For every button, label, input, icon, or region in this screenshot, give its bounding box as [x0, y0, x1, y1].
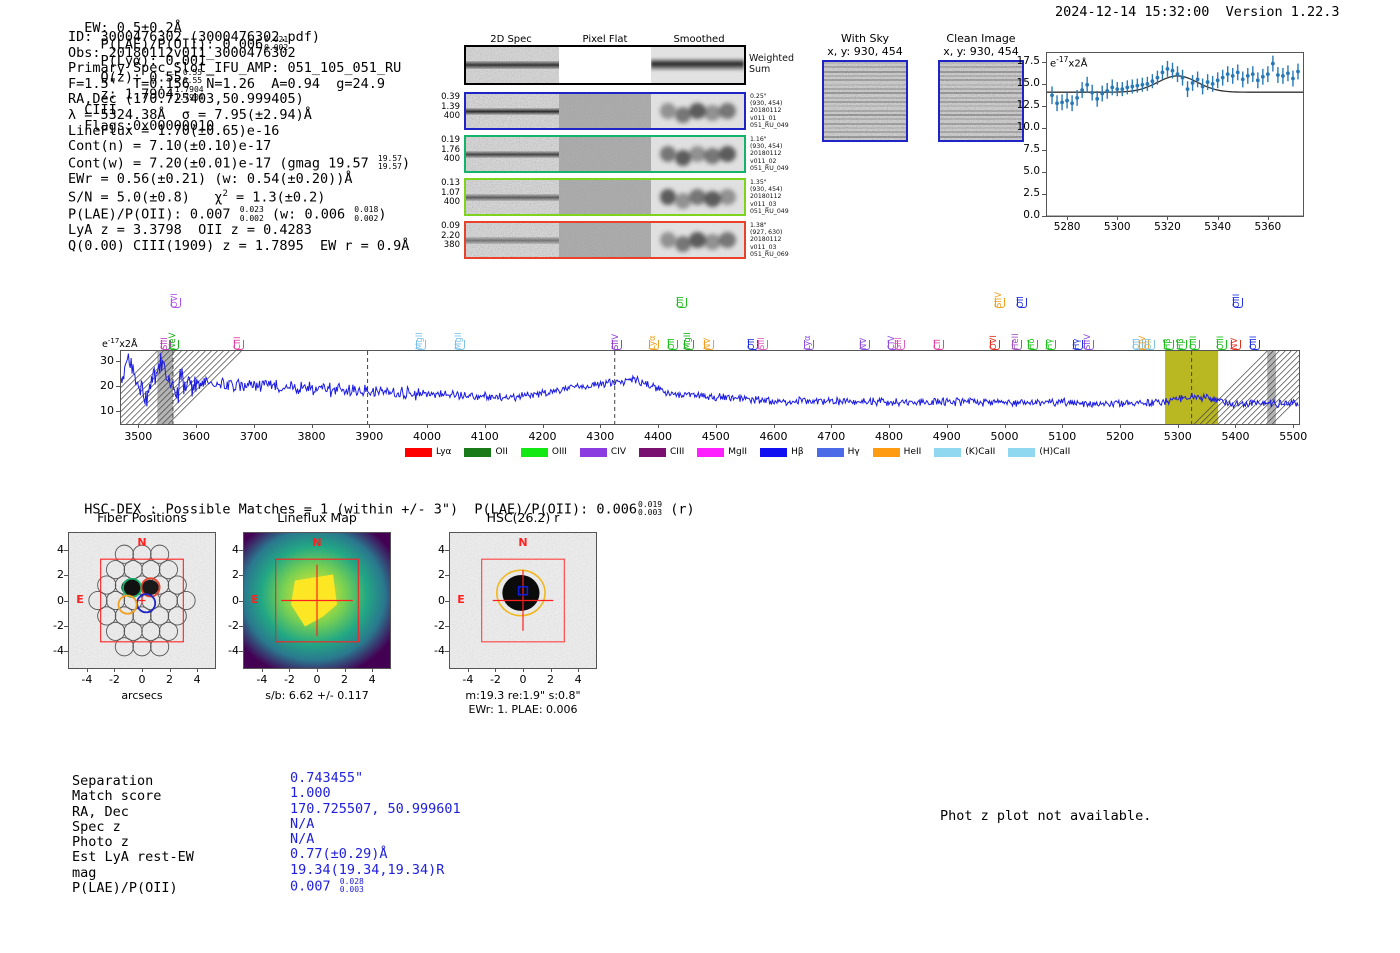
- cutout-stripe: [824, 110, 906, 112]
- spectrum-legend-label: OII: [495, 447, 507, 457]
- cutout-title-text: Clean Image: [916, 32, 1046, 45]
- bottom-panel-image: [449, 532, 597, 669]
- bottom-x-tick-label: 4: [564, 673, 592, 686]
- bottom-y-tick-label: -4: [215, 644, 239, 657]
- cutout-title-text: With Sky: [800, 32, 930, 45]
- bottom-y-tick-label: 2: [40, 568, 64, 581]
- info-line-q: Q(0.00) CIII(1909) z = 1.7895 EW r = 0.9…: [68, 239, 410, 255]
- cutout-stripe: [824, 84, 906, 86]
- spectrum-x-tick: [1235, 424, 1236, 428]
- bottom-x-tick: [317, 668, 318, 672]
- y-tick: [1042, 150, 1046, 151]
- weighted-sum-pixelflat: [559, 47, 652, 83]
- spectrum-legend-swatch: [934, 448, 961, 457]
- line-marker-label: Hγ: [1072, 320, 1082, 350]
- cutout-stripe: [824, 75, 906, 77]
- spectrum-legend-item: Hβ: [760, 447, 804, 457]
- spec2d-row-smooth-blob: [719, 103, 736, 119]
- bottom-y-tick: [64, 651, 68, 652]
- line-marker-label: Hβ: [1176, 320, 1186, 350]
- match-table-value: N/A: [290, 817, 461, 832]
- cutout-stripe: [824, 118, 906, 120]
- bottom-x-tick: [87, 668, 88, 672]
- line-marker-label: OIII: [1249, 320, 1259, 350]
- spec2d-row-smooth-blob: [660, 146, 677, 162]
- line-marker-label: OII: [1144, 320, 1154, 350]
- spectrum-x-tick: [427, 424, 428, 428]
- compass-east-label: E: [454, 593, 468, 606]
- y-tick: [1042, 194, 1046, 195]
- match-table-values: 0.743455"1.000170.725507, 50.999601N/AN/…: [290, 771, 461, 895]
- source-info-block: ID: 3000476302 (3000476302.pdf) Obs: 201…: [68, 30, 410, 255]
- line-marker-label: MgII: [415, 320, 425, 350]
- bottom-x-tick: [523, 668, 524, 672]
- spectrum-legend-label: MgII: [728, 447, 747, 457]
- spectrum-x-tick-label: 4200: [517, 430, 569, 443]
- spectrum-x-tick: [658, 424, 659, 428]
- bottom-x-tick: [170, 668, 171, 672]
- line-marker-label: OII: [676, 278, 686, 308]
- spectrum-legend-label: (H)CaII: [1039, 447, 1070, 457]
- spectrum-legend-swatch: [873, 448, 900, 457]
- x-tick-label: 5340: [1196, 221, 1240, 233]
- spectrum-x-tick: [196, 424, 197, 428]
- weighted-sum-trace: [466, 61, 559, 69]
- cutout-stripe: [824, 127, 906, 129]
- spectrum-legend-item: OII: [464, 447, 507, 457]
- line-marker-label: OIII: [1189, 320, 1199, 350]
- spectrum-x-tick-label: 4100: [459, 430, 511, 443]
- line-fit-units-annotation: e-17x2Å: [1050, 55, 1088, 69]
- bottom-y-tick-label: 2: [421, 568, 445, 581]
- spec2d-row-value: 400: [422, 198, 460, 208]
- info-line-z: LyA z = 3.3798 OII z = 0.4283: [68, 223, 410, 239]
- x-tick-label: 5360: [1246, 221, 1290, 233]
- spec2d-row-trace: [466, 151, 559, 158]
- spectrum-legend-label: CIII: [670, 447, 684, 457]
- match-table-value: 0.77(±0.29)Å: [290, 847, 461, 862]
- cutout-stripe: [824, 71, 906, 73]
- spec2d-row-smooth-blob: [719, 146, 736, 162]
- bottom-x-tick-label: 2: [331, 673, 359, 686]
- bottom-y-tick: [239, 651, 243, 652]
- info-line-cont-w: Cont(w) = 7.20(±0.01)e-17 (gmag 19.57 19…: [68, 155, 410, 172]
- bottom-y-tick-label: -2: [421, 619, 445, 632]
- spectrum-legend-item: CIV: [580, 447, 626, 457]
- weighted-sum-row: [464, 45, 746, 85]
- spectrum-x-tick: [485, 424, 486, 428]
- spectrum-legend-swatch: [521, 448, 548, 457]
- bottom-x-tick-label: 4: [183, 673, 211, 686]
- line-marker-label: SiIV: [611, 320, 621, 350]
- spec2d-row-meta: 1.16" (930, 454) 20180112 v011_02 051_RU…: [750, 136, 789, 172]
- spectrum-legend-label: Hβ: [791, 447, 804, 457]
- y-tick-label: 0.0: [1004, 209, 1040, 221]
- y-tick-label: 7.5: [1004, 143, 1040, 155]
- bottom-panel-image: [243, 532, 391, 669]
- bottom-x-tick: [372, 668, 373, 672]
- weighted-sum-label: Weighted Sum: [749, 53, 794, 75]
- bottom-y-tick: [445, 575, 449, 576]
- match-table-label: Match score: [72, 789, 194, 804]
- bottom-y-tick: [445, 626, 449, 627]
- bottom-y-tick-label: 0: [421, 594, 445, 607]
- bottom-x-tick: [197, 668, 198, 672]
- bottom-x-tick: [114, 668, 115, 672]
- line-marker-label: OVI: [170, 278, 180, 308]
- bottom-y-tick-label: 0: [215, 594, 239, 607]
- spectrum-x-tick-label: 4500: [690, 430, 742, 443]
- x-tick: [1067, 216, 1068, 220]
- plae-frac: 0.0230.002: [240, 206, 264, 223]
- spectrum-x-tick-label: 3700: [228, 430, 280, 443]
- y-tick-label: 10.0: [1004, 121, 1040, 133]
- bottom-y-tick: [239, 550, 243, 551]
- cutout-stripe: [824, 114, 906, 116]
- line-marker-label: Hβ: [1163, 320, 1173, 350]
- line-marker-label: Lyα: [803, 320, 813, 350]
- spectrum-x-tick: [312, 424, 313, 428]
- line-marker-label: NeV: [168, 320, 178, 350]
- cutout-stripe: [824, 66, 906, 68]
- spectrum-y-tick: [116, 411, 120, 412]
- spec2d-column-title: 2D Spec: [466, 34, 556, 45]
- x-tick: [1268, 216, 1269, 220]
- bottom-y-tick-label: -2: [40, 619, 64, 632]
- spectrum-x-tick-label: 3900: [343, 430, 395, 443]
- bottom-y-tick-label: 4: [421, 543, 445, 556]
- plae-w-frac: 0.0180.002: [354, 206, 378, 223]
- spectrum-x-tick-label: 4900: [921, 430, 973, 443]
- info-line-ewr: EWr = 0.56(±0.21) (w: 0.54(±0.20))Å: [68, 172, 410, 188]
- spec2d-row-trace: [466, 194, 559, 201]
- bottom-x-tick: [345, 668, 346, 672]
- compass-north-label: N: [515, 536, 531, 549]
- spectrum-x-tick-label: 4700: [805, 430, 857, 443]
- info-line-radec: RA,Dec (170.725403,50.999405): [68, 92, 410, 108]
- spec2d-row-trace: [466, 237, 559, 244]
- match-table-label: RA, Dec: [72, 805, 194, 820]
- info-line-primary: Primary Spec_Slot_IFU_AMP: 051_105_051_R…: [68, 61, 410, 77]
- spectrum-axes: [120, 350, 1300, 425]
- spec2d-row-smooth-blob: [660, 232, 677, 248]
- cutout-stripe: [940, 71, 1022, 73]
- info-line-cont-n: Cont(n) = 7.10(±0.10)e-17: [68, 139, 410, 155]
- line-fit-axes: [1046, 52, 1304, 217]
- spec2d-row-values: 0.191.76400: [422, 136, 460, 165]
- match-table-value: 1.000: [290, 786, 461, 801]
- spec2d-row-values: 0.092.20380: [422, 222, 460, 251]
- spectrum-x-tick: [138, 424, 139, 428]
- line-marker-label: OVI: [989, 320, 999, 350]
- cutout-stripe: [824, 131, 906, 133]
- line-marker-label: SiIV: [994, 278, 1004, 308]
- cutout-stripe: [824, 79, 906, 81]
- bottom-panel-xlabel: s/b: 6.62 +/- 0.117: [203, 689, 431, 702]
- line-marker-label: HeII: [1011, 320, 1021, 350]
- line-marker-label: SiII: [894, 320, 904, 350]
- spectrum-x-tick-label: 4800: [863, 430, 915, 443]
- spec2d-row: [464, 221, 746, 259]
- spectrum-legend-swatch: [580, 448, 607, 457]
- match-table-label: Separation: [72, 774, 194, 789]
- spec2d-row: [464, 92, 746, 130]
- spectrum-x-tick-label: 5500: [1267, 430, 1319, 443]
- spectrum-x-tick: [1120, 424, 1121, 428]
- bottom-panel-image: [68, 532, 216, 669]
- spectrum-legend-item: OIII: [521, 447, 567, 457]
- spectrum-units-annotation: e-17x2Å: [102, 337, 137, 350]
- spectrum-x-tick-label: 5100: [1036, 430, 1088, 443]
- bottom-x-tick-label: -2: [100, 673, 128, 686]
- cutout-stripe: [824, 105, 906, 107]
- match-plae-frac: 0.0280.003: [340, 878, 364, 895]
- spectrum-legend-swatch: [817, 448, 844, 457]
- spec2d-row: [464, 135, 746, 173]
- x-tick: [1117, 216, 1118, 220]
- spec2d-row-values: 0.391.39400: [422, 93, 460, 122]
- spec2d-row-2dspec: [466, 137, 559, 171]
- match-table-label: Photo z: [72, 835, 194, 850]
- y-tick-label: 12.5: [1004, 99, 1040, 111]
- spectrum-legend-label: HeII: [904, 447, 922, 457]
- spec2d-row-trace: [466, 108, 559, 115]
- datestamp: 2024-12-14 15:32:00 Version 1.22.3: [1055, 4, 1339, 20]
- line-marker-label: SiIV: [1083, 320, 1093, 350]
- match-table-label: Spec z: [72, 820, 194, 835]
- hsc-dex-plae-frac: 0.0190.003: [638, 501, 662, 518]
- spectrum-x-tick: [369, 424, 370, 428]
- bottom-y-tick-label: -4: [40, 644, 64, 657]
- spectrum-y-tick-label: 30: [86, 354, 114, 367]
- line-marker-label: MgII: [683, 320, 693, 350]
- compass-east-label: E: [73, 593, 87, 606]
- match-table-value: 19.34(19.34,19.34)R: [290, 863, 461, 878]
- spec2d-row-meta: 1.35" (930, 454) 20180112 v011_03 051_RU…: [750, 179, 789, 215]
- bottom-panel-title: Lineflux Map: [213, 510, 421, 525]
- cutout-stripe: [824, 123, 906, 125]
- bottom-x-tick-label: 2: [537, 673, 565, 686]
- spectrum-legend-label: Lyα: [436, 447, 451, 457]
- gmag-frac: 19.5719.57: [378, 155, 402, 172]
- cutout-stripe: [824, 92, 906, 94]
- bottom-x-tick: [289, 668, 290, 672]
- bottom-y-tick: [445, 550, 449, 551]
- line-marker-label: OII: [667, 320, 677, 350]
- spectrum-x-tick-label: 3800: [286, 430, 338, 443]
- bottom-x-tick: [578, 668, 579, 672]
- bottom-x-tick: [468, 668, 469, 672]
- spec2d-row-smooth-blob: [660, 189, 677, 205]
- spec2d-row-pixelflat: [559, 223, 652, 257]
- line-marker-label: Hγ: [1045, 320, 1055, 350]
- spectrum-legend-swatch: [760, 448, 787, 457]
- bottom-y-tick: [64, 601, 68, 602]
- photz-message: Phot z plot not available.: [940, 808, 1151, 824]
- bottom-x-tick-label: -4: [248, 673, 276, 686]
- spectrum-legend-swatch: [464, 448, 491, 457]
- spectrum-legend-item: Lyα: [405, 447, 451, 457]
- y-tick: [1042, 62, 1046, 63]
- y-tick-label: 5.0: [1004, 165, 1040, 177]
- line-marker-label: CII: [933, 320, 943, 350]
- bottom-y-tick: [64, 575, 68, 576]
- cutout-title: With Skyx, y: 930, 454: [800, 32, 930, 58]
- line-marker-label: Hδ: [1027, 320, 1037, 350]
- bottom-y-tick: [239, 575, 243, 576]
- match-table-value: 170.725507, 50.999601: [290, 802, 461, 817]
- line-marker-label: NV: [859, 320, 869, 350]
- spectrum-x-tick-label: 5300: [1152, 430, 1204, 443]
- spectrum-x-tick: [1062, 424, 1063, 428]
- spectrum-x-tick-label: 5400: [1209, 430, 1261, 443]
- bottom-y-tick: [445, 651, 449, 652]
- match-table-value: 0.743455": [290, 771, 461, 786]
- spectrum-x-tick: [716, 424, 717, 428]
- spec2d-row-value: 380: [422, 241, 460, 251]
- info-line-obs: Obs: 20180112v011_3000476302: [68, 46, 410, 62]
- bottom-x-tick: [495, 668, 496, 672]
- match-table-label: P(LAE)/P(OII): [72, 881, 194, 896]
- spectrum-x-tick: [1005, 424, 1006, 428]
- spectrum-x-tick-label: 4300: [574, 430, 626, 443]
- spectrum-legend-swatch: [697, 448, 724, 457]
- y-tick: [1042, 216, 1046, 217]
- x-tick-label: 5280: [1045, 221, 1089, 233]
- cutout-stripe: [824, 136, 906, 138]
- y-tick: [1042, 172, 1046, 173]
- cutout-stripe: [940, 92, 1022, 94]
- spectrum-x-tick-label: 5000: [979, 430, 1031, 443]
- spectrum-x-tick: [543, 424, 544, 428]
- cutout-stripe: [940, 114, 1022, 116]
- spec2d-row-smoothed: [651, 223, 744, 257]
- bottom-x-tick-label: -2: [481, 673, 509, 686]
- line-marker-label: NV: [703, 320, 713, 350]
- bottom-y-tick: [239, 626, 243, 627]
- y-tick: [1042, 84, 1046, 85]
- line-marker-label: OII: [1016, 278, 1026, 308]
- spec2d-row-smooth-blob: [719, 189, 736, 205]
- spec2d-row-smooth-blob: [719, 232, 736, 248]
- info-line-lambda: λ = 5324.38Å σ = 7.95(±2.94)Å: [68, 108, 410, 124]
- y-tick: [1042, 106, 1046, 107]
- y-tick-label: 15.0: [1004, 77, 1040, 89]
- line-marker-label: Lyα: [648, 320, 658, 350]
- y-tick-label: 2.5: [1004, 187, 1040, 199]
- spectrum-legend-label: (K)CaII: [965, 447, 995, 457]
- spec2d-column-title: Smoothed: [654, 34, 744, 45]
- spec2d-row-value: 400: [422, 155, 460, 165]
- x-tick-label: 5300: [1095, 221, 1139, 233]
- cutout-stripe: [824, 101, 906, 103]
- info-line-params: F=1.5" T=0.156 N̅=1.26 A=0.94 g=24.9: [68, 77, 410, 93]
- spec2d-row-pixelflat: [559, 94, 652, 128]
- weighted-sum-smoothed: [651, 47, 744, 83]
- bottom-x-tick: [262, 668, 263, 672]
- spectrum-legend-item: (K)CaII: [934, 447, 995, 457]
- cutout-stripe: [824, 97, 906, 99]
- spectrum-legend-swatch: [405, 448, 432, 457]
- spectrum-legend-swatch: [1008, 448, 1035, 457]
- spec2d-row-smoothed: [651, 180, 744, 214]
- match-table-value: 0.007 0.0280.003: [290, 878, 461, 895]
- match-table-label: mag: [72, 866, 194, 881]
- spec2d-row-meta: 1.38" (927, 630) 20180112 v011_03 051_RU…: [750, 222, 789, 258]
- spectrum-x-tick: [1293, 424, 1294, 428]
- spec2d-column-title: Pixel Flat: [560, 34, 650, 45]
- spectrum-x-tick-label: 4600: [748, 430, 800, 443]
- info-line-lineflux: LineFlux = 1.70(±0.65)e-16: [68, 124, 410, 140]
- spectrum-legend-label: OIII: [552, 447, 567, 457]
- spectrum-legend: LyαOIIOIIICIVCIIIMgIIHβHγHeII(K)CaII(H)C…: [405, 447, 1083, 457]
- spec2d-row-2dspec: [466, 223, 559, 257]
- spectrum-legend-item: MgII: [697, 447, 747, 457]
- spectrum-legend-item: HeII: [873, 447, 922, 457]
- spectrum-legend-item: Hγ: [817, 447, 860, 457]
- spectrum-y-tick-label: 10: [86, 404, 114, 417]
- spectrum-x-tick: [774, 424, 775, 428]
- spectrum-legend-label: Hγ: [848, 447, 860, 457]
- bottom-x-tick-label: -2: [275, 673, 303, 686]
- spectrum-x-tick-label: 4400: [632, 430, 684, 443]
- spec2d-row: [464, 178, 746, 216]
- spectrum-x-tick: [1178, 424, 1179, 428]
- spec2d-row-smoothed: [651, 94, 744, 128]
- spec2d-row-pixelflat: [559, 137, 652, 171]
- spectrum-y-tick-label: 20: [86, 379, 114, 392]
- bottom-y-tick: [445, 601, 449, 602]
- cutout-image: [822, 60, 908, 142]
- bottom-x-tick-label: 0: [128, 673, 156, 686]
- bottom-panel-title: HSC(26.2) r: [419, 510, 627, 525]
- bottom-y-tick-label: 2: [215, 568, 239, 581]
- x-tick-label: 5320: [1145, 221, 1189, 233]
- cutout-stripe: [940, 136, 1022, 138]
- bottom-x-tick-label: 0: [509, 673, 537, 686]
- spectrum-x-tick-label: 3600: [170, 430, 222, 443]
- bottom-x-tick-label: 4: [358, 673, 386, 686]
- line-marker-label: CIII: [233, 320, 243, 350]
- spectrum-x-tick: [600, 424, 601, 428]
- spectrum-legend-swatch: [639, 448, 666, 457]
- bottom-y-tick-label: 0: [40, 594, 64, 607]
- x-tick: [1167, 216, 1168, 220]
- info-line-id: ID: 3000476302 (3000476302.pdf): [68, 30, 410, 46]
- cutout-stripe: [824, 88, 906, 90]
- spec2d-row-2dspec: [466, 180, 559, 214]
- hsc-dex-filter: (r): [670, 501, 694, 517]
- spectrum-x-tick-label: 5200: [1094, 430, 1146, 443]
- spectrum-y-tick: [116, 386, 120, 387]
- compass-east-label: E: [248, 593, 262, 606]
- spectrum-legend-item: (H)CaII: [1008, 447, 1070, 457]
- bottom-x-tick-label: 2: [156, 673, 184, 686]
- bottom-y-tick-label: -4: [421, 644, 445, 657]
- spec2d-row-meta: 0.25" (930, 454) 20180112 v011_01 051_RU…: [750, 93, 789, 129]
- spectrum-legend-label: CIV: [611, 447, 626, 457]
- spec2d-row-value: 400: [422, 112, 460, 122]
- weighted-sum-smooth-trace: [651, 58, 744, 72]
- bottom-y-tick: [239, 601, 243, 602]
- line-marker-label: OIII: [1216, 320, 1226, 350]
- bottom-y-tick: [64, 550, 68, 551]
- bottom-x-tick-label: -4: [454, 673, 482, 686]
- spec2d-row-smooth-blob: [660, 103, 677, 119]
- spec2d-row-smoothed: [651, 137, 744, 171]
- compass-north-label: N: [134, 536, 150, 549]
- spec2d-row-2dspec: [466, 94, 559, 128]
